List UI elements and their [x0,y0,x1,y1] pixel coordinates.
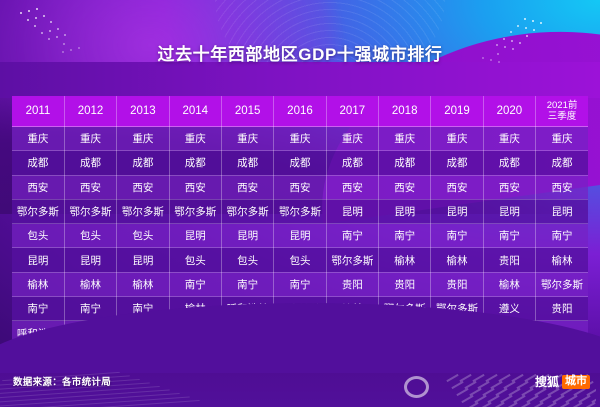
table-cell: 昆明 [64,248,116,272]
table-row: 成都成都成都成都成都成都成都成都成都成都成都 [12,151,588,175]
table-cell: 榆林 [64,272,116,296]
table-cell: 昆明 [326,199,378,223]
table-cell: 榆林 [379,248,431,272]
table-cell: 榆林 [117,272,169,296]
decorative-ring-icon [404,376,429,398]
table-row: 榆林榆林榆林南宁南宁南宁贵阳贵阳贵阳榆林鄂尔多斯 [12,272,588,296]
table-cell: 重庆 [12,127,64,151]
table-cell: 南宁 [12,297,64,321]
table-cell: 西安 [221,175,273,199]
data-source-label: 数据来源：各市统计局 [13,374,111,388]
table-cell: 重庆 [536,127,588,151]
table-cell: 西安 [326,175,378,199]
table-cell: 昆明 [274,224,326,248]
table-cell: 昆明 [431,199,483,223]
table-cell: 西安 [483,175,535,199]
table-column-header: 2014 [169,96,221,127]
table-cell: 包头 [169,248,221,272]
table-cell: 南宁 [221,272,273,296]
table-head: 2011201220132014201520162017201820192020… [12,96,588,127]
table-cell: 南宁 [274,272,326,296]
table-cell: 重庆 [326,127,378,151]
table-column-header: 2012 [64,96,116,127]
table-cell: 鄂尔多斯 [169,199,221,223]
table-cell: 成都 [221,151,273,175]
infographic-canvas: 过去十年西部地区GDP十强城市排行 2011201220132014201520… [0,0,600,407]
table-cell: 昆明 [117,248,169,272]
logo-brand-text: 搜狐 [535,373,559,390]
table-cell: 榆林 [431,248,483,272]
table-cell: 昆明 [221,224,273,248]
table-cell: 昆明 [483,199,535,223]
table-cell: 南宁 [536,224,588,248]
table-cell: 昆明 [169,224,221,248]
table-cell: 西安 [274,175,326,199]
table-cell: 昆明 [12,248,64,272]
table-cell: 贵阳 [536,297,588,321]
table-column-header: 2016 [274,96,326,127]
table-column-header: 2018 [379,96,431,127]
table-cell: 贵阳 [379,272,431,296]
table-column-header: 2013 [117,96,169,127]
table-cell: 成都 [117,151,169,175]
table-cell: 重庆 [169,127,221,151]
table-cell: 榆林 [12,272,64,296]
table-cell: 鄂尔多斯 [274,199,326,223]
background-purple-band [0,62,600,98]
table-cell: 成都 [483,151,535,175]
table-cell: 成都 [379,151,431,175]
table-cell: 成都 [169,151,221,175]
table-cell: 南宁 [169,272,221,296]
table-cell: 贵阳 [326,272,378,296]
table-cell: 成都 [326,151,378,175]
sohu-city-logo[interactable]: 搜狐 城市 [535,373,590,390]
table-cell: 重庆 [483,127,535,151]
table-cell: 南宁 [483,224,535,248]
table-column-header: 2019 [431,96,483,127]
table-cell: 成都 [431,151,483,175]
table-cell: 重庆 [64,127,116,151]
table-cell: 鄂尔多斯 [12,199,64,223]
table-column-header: 2021前三季度 [536,96,588,127]
table-cell: 鄂尔多斯 [117,199,169,223]
page-title: 过去十年西部地区GDP十强城市排行 [0,40,600,65]
table-cell: 重庆 [117,127,169,151]
table-cell: 包头 [221,248,273,272]
table-cell: 西安 [117,175,169,199]
table-cell: 南宁 [326,224,378,248]
table-cell: 昆明 [536,199,588,223]
table-cell: 包头 [12,224,64,248]
table-column-header: 2011 [12,96,64,127]
table-cell: 重庆 [274,127,326,151]
table-row: 包头包头包头昆明昆明昆明南宁南宁南宁南宁南宁 [12,224,588,248]
table-row: 西安西安西安西安西安西安西安西安西安西安西安 [12,175,588,199]
logo-badge-text: 城市 [562,375,590,389]
table-cell: 昆明 [379,199,431,223]
table-row: 重庆重庆重庆重庆重庆重庆重庆重庆重庆重庆重庆 [12,127,588,151]
table-cell: 重庆 [431,127,483,151]
table-row: 昆明昆明昆明包头包头包头鄂尔多斯榆林榆林贵阳榆林 [12,248,588,272]
table-column-header: 2020 [483,96,535,127]
table-cell: 包头 [274,248,326,272]
table-cell: 西安 [431,175,483,199]
table-row: 鄂尔多斯鄂尔多斯鄂尔多斯鄂尔多斯鄂尔多斯鄂尔多斯昆明昆明昆明昆明昆明 [12,199,588,223]
table-cell: 榆林 [483,272,535,296]
table-cell: 西安 [536,175,588,199]
table-cell: 鄂尔多斯 [326,248,378,272]
table-cell: 成都 [274,151,326,175]
table-cell: 西安 [379,175,431,199]
table-column-header: 2015 [221,96,273,127]
table-cell: 鄂尔多斯 [221,199,273,223]
table-cell: 南宁 [431,224,483,248]
table-header-row: 2011201220132014201520162017201820192020… [12,96,588,127]
table-cell: 成都 [64,151,116,175]
table-cell: 榆林 [536,248,588,272]
table-cell: 包头 [64,224,116,248]
table-cell: 南宁 [379,224,431,248]
table-cell: 贵阳 [431,272,483,296]
table-cell: 成都 [12,151,64,175]
table-cell: 重庆 [221,127,273,151]
table-cell: 西安 [12,175,64,199]
table-cell: 西安 [169,175,221,199]
table-cell: 包头 [117,224,169,248]
table-cell: 重庆 [379,127,431,151]
table-cell: 鄂尔多斯 [536,272,588,296]
table-cell: 成都 [536,151,588,175]
table-column-header: 2017 [326,96,378,127]
table-cell: 贵阳 [483,248,535,272]
table-cell: 西安 [64,175,116,199]
table-cell: 鄂尔多斯 [64,199,116,223]
